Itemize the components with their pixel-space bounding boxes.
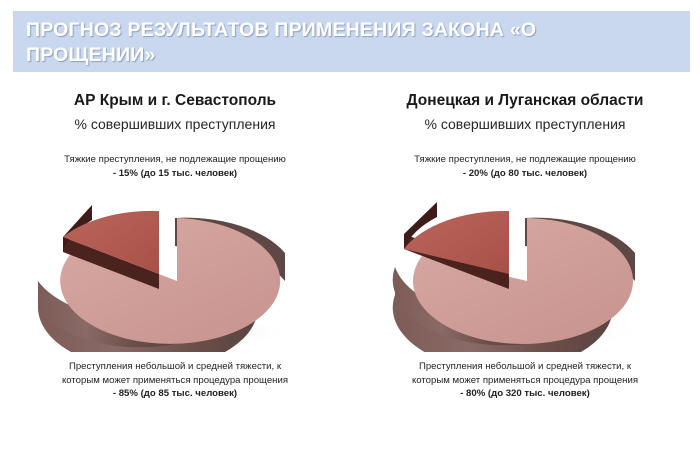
page-title: ПРОГНОЗ РЕЗУЛЬТАТОВ ПРИМЕНЕНИЯ ЗАКОНА «О…: [26, 18, 666, 68]
bottom-caption-line2-donbas: которым может применяться процедура прощ…: [358, 374, 692, 388]
chart-panel-donbas: Донецкая и Луганская области % совершивш…: [350, 82, 700, 452]
chart-subtitle-donbas: % совершивших преступления: [425, 115, 626, 133]
chart-panel-crimea: АР Крым и г. Севастополь % совершивших п…: [0, 82, 350, 452]
bottom-caption-crimea: Преступления небольшой и средней тяжести…: [8, 360, 342, 401]
chart-subtitle-crimea: % совершивших преступления: [75, 115, 276, 133]
top-caption-donbas: Тяжкие преступления, не подлежащие проще…: [360, 153, 690, 180]
bottom-caption-line1-donbas: Преступления небольшой и средней тяжести…: [358, 360, 692, 374]
bottom-caption-line2-crimea: которым может применяться процедура прощ…: [8, 374, 342, 388]
pie-chart-crimea-svg: [25, 184, 325, 352]
top-caption-line1-crimea: Тяжкие преступления, не подлежащие проще…: [10, 153, 340, 167]
bottom-caption-line1-crimea: Преступления небольшой и средней тяжести…: [8, 360, 342, 374]
pie-chart-donbas: [360, 184, 690, 352]
bottom-caption-value-crimea: - 85% (до 85 тыс. человек): [8, 387, 342, 401]
chart-title-crimea: АР Крым и г. Севастополь: [74, 91, 276, 110]
top-caption-crimea: Тяжкие преступления, не подлежащие проще…: [10, 153, 340, 180]
pie-chart-donbas-svg: [375, 184, 675, 352]
bottom-caption-donbas: Преступления небольшой и средней тяжести…: [358, 360, 692, 401]
pie-chart-crimea: [10, 184, 340, 352]
slide-header-band: ПРОГНОЗ РЕЗУЛЬТАТОВ ПРИМЕНЕНИЯ ЗАКОНА «О…: [13, 11, 690, 72]
top-caption-line1-donbas: Тяжкие преступления, не подлежащие проще…: [360, 153, 690, 167]
charts-container: АР Крым и г. Севастополь % совершивших п…: [0, 82, 700, 452]
top-caption-value-crimea: - 15% (до 15 тыс. человек): [10, 167, 340, 181]
top-caption-value-donbas: - 20% (до 80 тыс. человек): [360, 167, 690, 181]
bottom-caption-value-donbas: - 80% (до 320 тыс. человек): [358, 387, 692, 401]
chart-title-donbas: Донецкая и Луганская области: [407, 91, 644, 110]
